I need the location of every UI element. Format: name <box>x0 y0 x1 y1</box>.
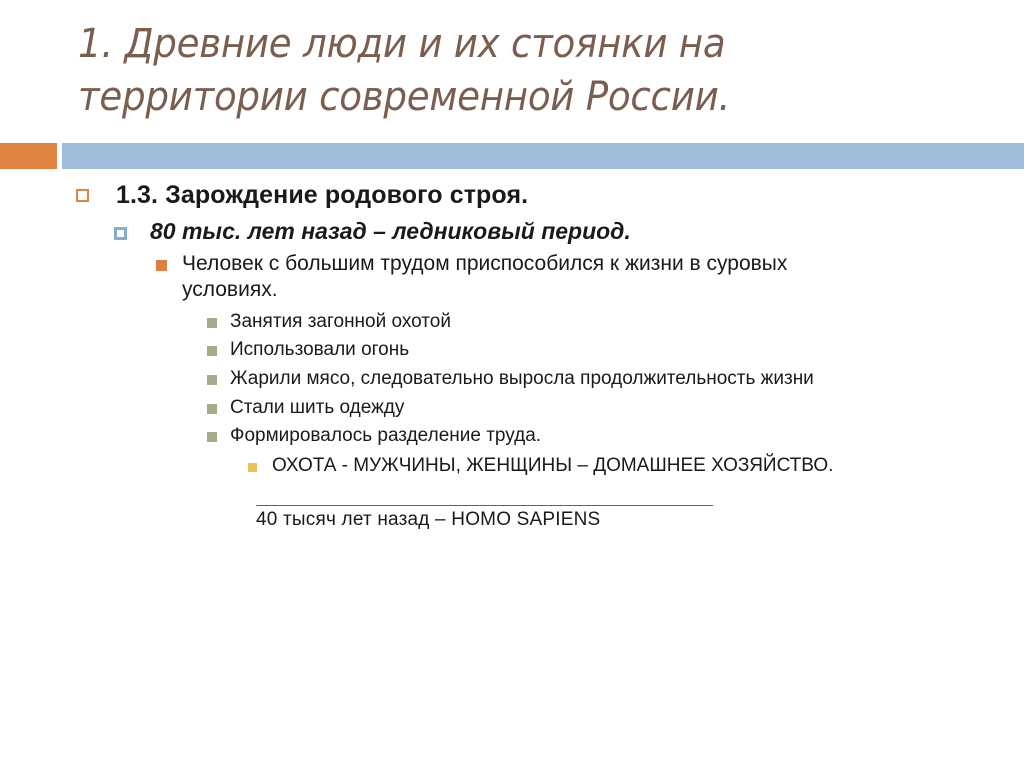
list-item: Формировалось разделение труда. <box>0 424 1024 449</box>
list-item-label: Занятия загонной охотой <box>230 310 939 335</box>
bullet-item-level2: 80 тыс. лет назад – ледниковый период. <box>0 217 1024 246</box>
bullet-item-level3: Человек с большим трудом приспособился к… <box>0 251 1024 304</box>
bullet-item-level5: ОХОТА - МУЖЧИНЫ, ЖЕНЩИНЫ – ДОМАШНЕЕ ХОЗЯ… <box>0 455 1024 477</box>
olive-square-bullet-icon <box>207 404 217 414</box>
hollow-orange-square-bullet-icon <box>76 189 89 202</box>
olive-square-bullet-icon <box>207 375 217 385</box>
list-item: Жарили мясо, следовательно выросла продо… <box>0 367 1024 392</box>
footer-note: ________________________________________… <box>0 489 1024 533</box>
bullet-item-level5-label: ОХОТА - МУЖЧИНЫ, ЖЕНЩИНЫ – ДОМАШНЕЕ ХОЗЯ… <box>272 455 864 477</box>
list-item-label: Формировалось разделение труда. <box>230 424 939 449</box>
bullet-item-level1-label: 1.3. Зарождение родового строя. <box>116 180 1024 211</box>
list-item: Использовали огонь <box>0 338 1024 363</box>
list-item-label: Жарили мясо, следовательно выросла продо… <box>230 367 939 392</box>
olive-square-bullet-icon <box>207 318 217 328</box>
list-item-label: Стали шить одежду <box>230 396 939 421</box>
title-divider-band <box>0 143 1024 169</box>
list-item: Занятия загонной охотой <box>0 310 1024 335</box>
bullet-item-level3-label: Человек с большим трудом приспособился к… <box>182 251 874 304</box>
divider-bar <box>62 143 1024 169</box>
list-item-label: Использовали огонь <box>230 338 939 363</box>
list-item: Стали шить одежду <box>0 396 1024 421</box>
bullet-item-level1: 1.3. Зарождение родового строя. <box>0 180 1024 211</box>
blue-square-bullet-icon <box>114 227 127 240</box>
gold-square-bullet-icon <box>248 463 257 472</box>
page-title: 1. Древние люди и их стоянки на территор… <box>78 18 878 124</box>
olive-square-bullet-icon <box>207 346 217 356</box>
slide-body: 1.3. Зарождение родового строя. 80 тыс. … <box>0 180 1024 533</box>
footer-note-label: 40 тысяч лет назад – HOMO SAPIENS <box>256 506 904 534</box>
divider-accent-block <box>0 143 57 169</box>
horizontal-rule: ________________________________________… <box>256 489 904 505</box>
bullet-item-level2-label: 80 тыс. лет назад – ледниковый период. <box>150 217 1024 246</box>
olive-square-bullet-icon <box>207 432 217 442</box>
orange-square-bullet-icon <box>156 260 167 271</box>
